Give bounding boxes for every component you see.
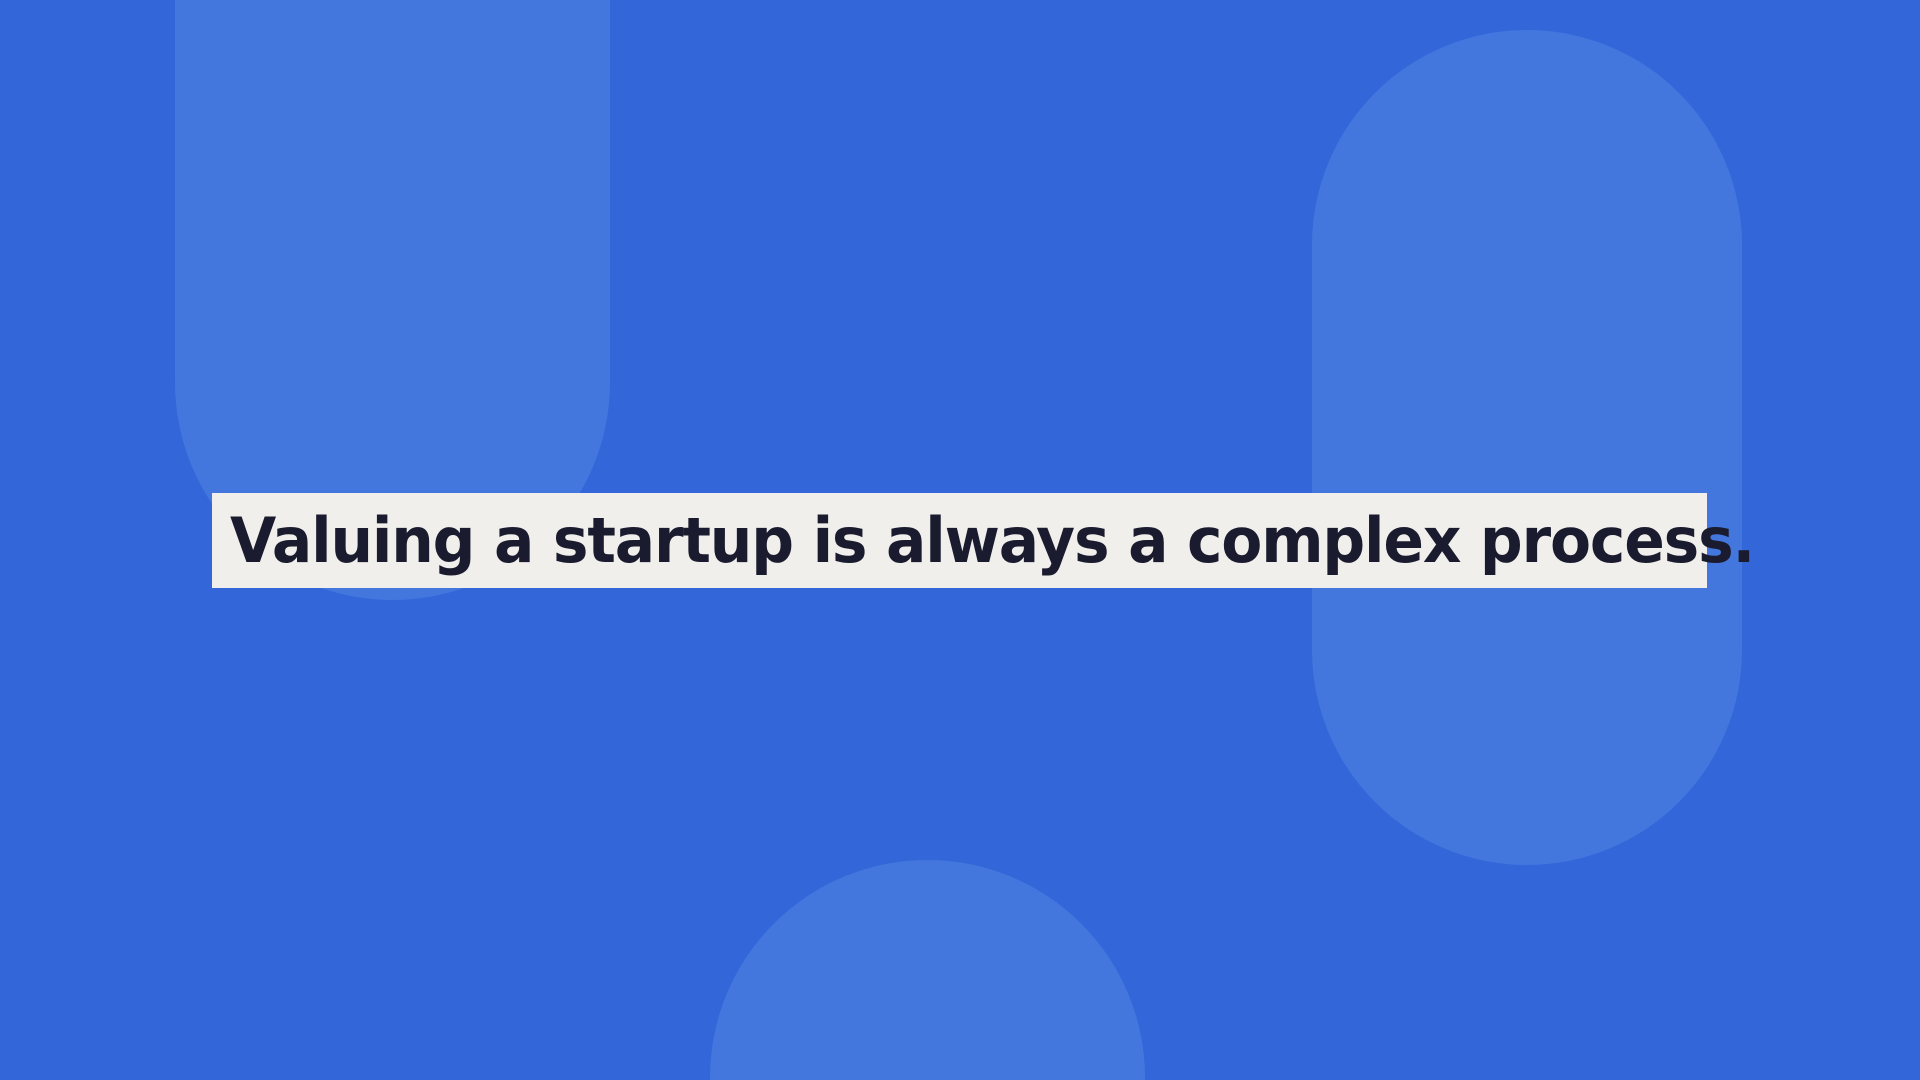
background-shape-right-pill: [1312, 30, 1742, 865]
background-shape-bottom-circle: [710, 860, 1145, 1080]
headline-text: Valuing a startup is always a complex pr…: [230, 510, 1754, 572]
slide-canvas: Valuing a startup is always a complex pr…: [0, 0, 1920, 1080]
headline-banner: Valuing a startup is always a complex pr…: [212, 493, 1707, 588]
